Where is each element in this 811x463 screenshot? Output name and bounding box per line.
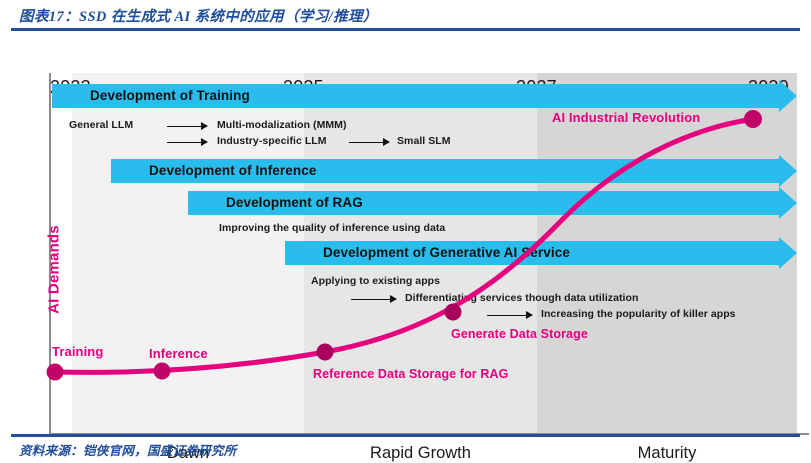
phase-label-rapid-growth: Rapid Growth	[304, 444, 537, 463]
phase-label-maturity: Maturity	[537, 444, 797, 463]
source-divider	[11, 434, 800, 437]
curve-label-rag-storage: Reference Data Storage for RAG	[313, 367, 508, 381]
curve-label-training: Training	[52, 344, 103, 359]
curve-point-revolution	[744, 110, 762, 128]
chart-area: 2023 2025 2027 2030 AI Demands Developme…	[19, 33, 793, 431]
curve-label-inference: Inference	[149, 346, 208, 361]
curve-point-generate-storage	[445, 304, 462, 321]
curve-point-rag-storage	[317, 344, 334, 361]
curve-point-training	[47, 364, 64, 381]
source-note: 资料来源：铠侠官网，国盛证券研究所	[19, 440, 237, 459]
curve-path	[55, 119, 753, 372]
figure-title: 图表17：SSD 在生成式 AI 系统中的应用（学习/推理）	[19, 5, 378, 26]
curve-label-revolution: AI Industrial Revolution	[552, 110, 700, 125]
curve-point-inference	[154, 363, 171, 380]
curve-label-generate-storage: Generate Data Storage	[451, 327, 588, 341]
figure-container: 图表17：SSD 在生成式 AI 系统中的应用（学习/推理） 2023 2025…	[0, 0, 811, 463]
title-divider	[11, 28, 800, 31]
